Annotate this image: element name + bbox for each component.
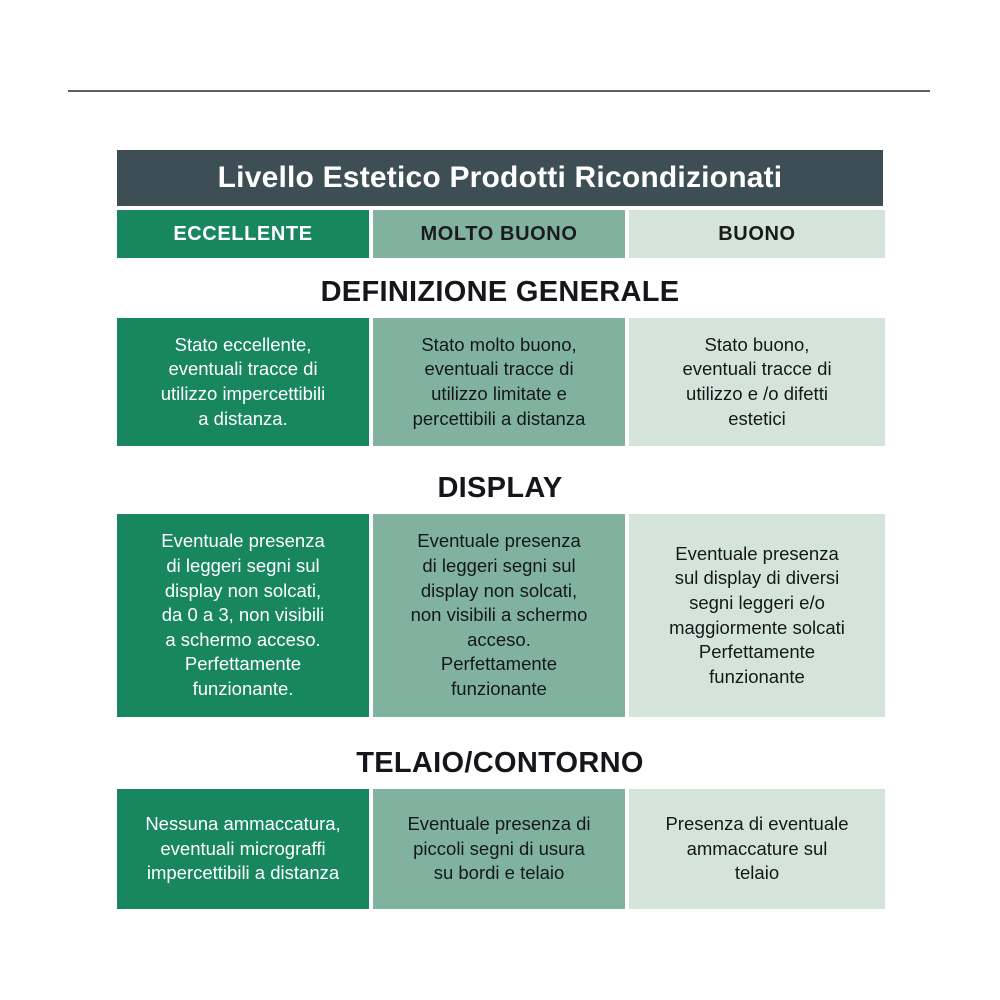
cell-text: Eventuale presenza sul display di divers… (643, 542, 871, 690)
page-root: Livello Estetico Prodotti Ricondizionati… (0, 0, 1000, 1000)
page-title: Livello Estetico Prodotti Ricondizionati (218, 161, 783, 195)
section-heading-display: DISPLAY (117, 472, 883, 505)
section-heading-definizione-generale: DEFINIZIONE GENERALE (117, 276, 883, 309)
table-cell-definizione-buono: Stato buono, eventuali tracce di utilizz… (629, 318, 885, 446)
table-cell-display-eccellente: Eventuale presenza di leggeri segni sul … (117, 514, 369, 717)
grade-header-row: ECCELLENTE MOLTO BUONO BUONO (117, 210, 883, 258)
cell-text: Stato molto buono, eventuali tracce di u… (387, 333, 611, 431)
grade-cell-eccellente: ECCELLENTE (117, 210, 369, 258)
section-row-display: Eventuale presenza di leggeri segni sul … (117, 514, 883, 717)
section-heading-telaio-contorno: TELAIO/CONTORNO (117, 747, 883, 780)
section-row-telaio-contorno: Nessuna ammaccatura, eventuali micrograf… (117, 789, 883, 909)
table-cell-definizione-molto-buono: Stato molto buono, eventuali tracce di u… (373, 318, 625, 446)
grade-cell-molto-buono: MOLTO BUONO (373, 210, 625, 258)
table-cell-telaio-molto-buono: Eventuale presenza di piccoli segni di u… (373, 789, 625, 909)
grade-label: ECCELLENTE (173, 223, 312, 246)
table-title-bar: Livello Estetico Prodotti Ricondizionati (117, 150, 883, 206)
table-cell-telaio-eccellente: Nessuna ammaccatura, eventuali micrograf… (117, 789, 369, 909)
cell-text: Nessuna ammaccatura, eventuali micrograf… (131, 812, 355, 886)
cell-text: Eventuale presenza di leggeri segni sul … (387, 529, 611, 701)
grade-cell-buono: BUONO (629, 210, 885, 258)
cell-text: Stato eccellente, eventuali tracce di ut… (131, 333, 355, 431)
comparison-table: Livello Estetico Prodotti Ricondizionati… (117, 150, 883, 909)
cell-text: Stato buono, eventuali tracce di utilizz… (643, 333, 871, 431)
table-cell-telaio-buono: Presenza di eventuale ammaccature sul te… (629, 789, 885, 909)
cell-text: Presenza di eventuale ammaccature sul te… (643, 812, 871, 886)
table-cell-display-buono: Eventuale presenza sul display di divers… (629, 514, 885, 717)
grade-label: MOLTO BUONO (421, 223, 578, 246)
cell-text: Eventuale presenza di leggeri segni sul … (131, 529, 355, 701)
top-divider-rule (68, 90, 930, 92)
table-cell-definizione-eccellente: Stato eccellente, eventuali tracce di ut… (117, 318, 369, 446)
cell-text: Eventuale presenza di piccoli segni di u… (387, 812, 611, 886)
grade-label: BUONO (718, 223, 795, 246)
table-cell-display-molto-buono: Eventuale presenza di leggeri segni sul … (373, 514, 625, 717)
section-row-definizione-generale: Stato eccellente, eventuali tracce di ut… (117, 318, 883, 446)
